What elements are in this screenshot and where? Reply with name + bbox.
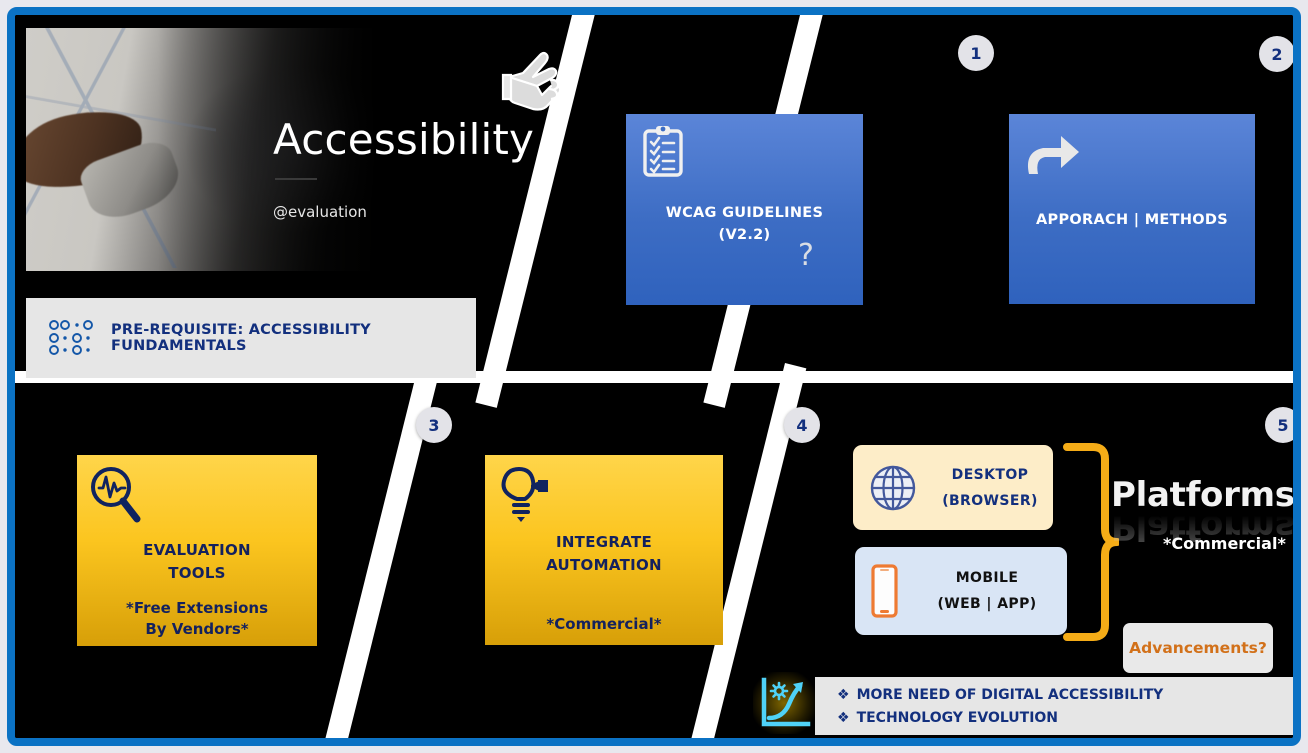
- card-wcag-line2: (V2.2): [626, 224, 863, 246]
- platform-desktop-line2: (BROWSER): [927, 488, 1053, 514]
- mobile-phone-icon: [867, 563, 901, 619]
- card-auto-note1: *Commercial*: [485, 614, 723, 635]
- page-subtitle: @evaluation: [273, 203, 367, 221]
- step-badge-5: 5: [1265, 407, 1293, 443]
- platform-card-mobile[interactable]: MOBILE (WEB | APP): [855, 547, 1067, 635]
- magnifier-pulse-icon: [87, 463, 143, 525]
- step-badge-2: 2: [1259, 36, 1293, 72]
- card-wcag-guidelines[interactable]: WCAG GUIDELINES (V2.2) ?: [626, 114, 863, 305]
- prerequisite-label: PRE-REQUISITE: ACCESSIBILITY FUNDAMENTAL…: [111, 322, 476, 354]
- trend-bullet-2-label: TECHNOLOGY EVOLUTION: [857, 710, 1058, 726]
- diamond-bullet-icon: ❖: [837, 687, 850, 703]
- step-badge-3: 3: [416, 407, 452, 443]
- card-auto-line2: AUTOMATION: [485, 554, 723, 577]
- platform-mobile-labels: MOBILE (WEB | APP): [907, 565, 1067, 617]
- card-auto-line1: INTEGRATE: [485, 531, 723, 554]
- card-approach-line1: APPORACH | METHODS: [1009, 209, 1255, 231]
- card-eval-line2: TOOLS: [77, 562, 317, 585]
- platform-desktop-labels: DESKTOP (BROWSER): [927, 462, 1053, 514]
- platform-mobile-line1: MOBILE: [907, 565, 1067, 591]
- lightbulb-plug-icon: [495, 463, 551, 525]
- question-mark-icon: ?: [798, 238, 814, 273]
- card-wcag-line1: WCAG GUIDELINES: [626, 202, 863, 224]
- platform-desktop-line1: DESKTOP: [927, 462, 1053, 488]
- card-integrate-automation[interactable]: INTEGRATE AUTOMATION *Commercial*: [485, 455, 723, 645]
- diamond-bullet-icon: ❖: [837, 710, 850, 726]
- page-title: Accessibility: [273, 115, 534, 164]
- globe-icon: [865, 460, 921, 516]
- platforms-wordmark: Platforms Platforms: [1111, 477, 1293, 569]
- platforms-heading: Platforms: [1111, 477, 1293, 513]
- slide-canvas: Accessibility @evaluation: [15, 15, 1293, 738]
- trend-bullet-2: ❖TECHNOLOGY EVOLUTION: [837, 707, 1293, 730]
- trends-panel: ❖MORE NEED OF DIGITAL ACCESSIBILITY ❖TEC…: [815, 677, 1293, 735]
- slide-frame: Accessibility @evaluation: [7, 7, 1301, 746]
- curved-arrow-icon: [1021, 126, 1081, 178]
- growth-chart-icon: [753, 672, 815, 734]
- card-approach-methods[interactable]: APPORACH | METHODS: [1009, 114, 1255, 304]
- braille-dots-icon: [47, 318, 93, 358]
- platform-card-desktop[interactable]: DESKTOP (BROWSER): [853, 445, 1053, 530]
- card-eval-note2: By Vendors*: [77, 619, 317, 640]
- trend-bullet-1: ❖MORE NEED OF DIGITAL ACCESSIBILITY: [837, 684, 1293, 707]
- card-evaluation-tools[interactable]: EVALUATION TOOLS *Free Extensions By Ven…: [77, 455, 317, 646]
- card-eval-line1: EVALUATION: [77, 539, 317, 562]
- sign-language-icon: [493, 47, 565, 117]
- title-divider: [275, 178, 317, 180]
- platform-mobile-line2: (WEB | APP): [907, 591, 1067, 617]
- trend-bullet-1-label: MORE NEED OF DIGITAL ACCESSIBILITY: [857, 687, 1164, 703]
- platforms-note: *Commercial*: [1163, 534, 1286, 553]
- prerequisite-bar: PRE-REQUISITE: ACCESSIBILITY FUNDAMENTAL…: [26, 298, 476, 378]
- advancements-badge[interactable]: Advancements?: [1123, 623, 1273, 673]
- clipboard-checklist-icon: [640, 124, 688, 180]
- card-eval-note1: *Free Extensions: [77, 598, 317, 619]
- step-badge-1: 1: [958, 35, 994, 71]
- step-badge-4: 4: [784, 407, 820, 443]
